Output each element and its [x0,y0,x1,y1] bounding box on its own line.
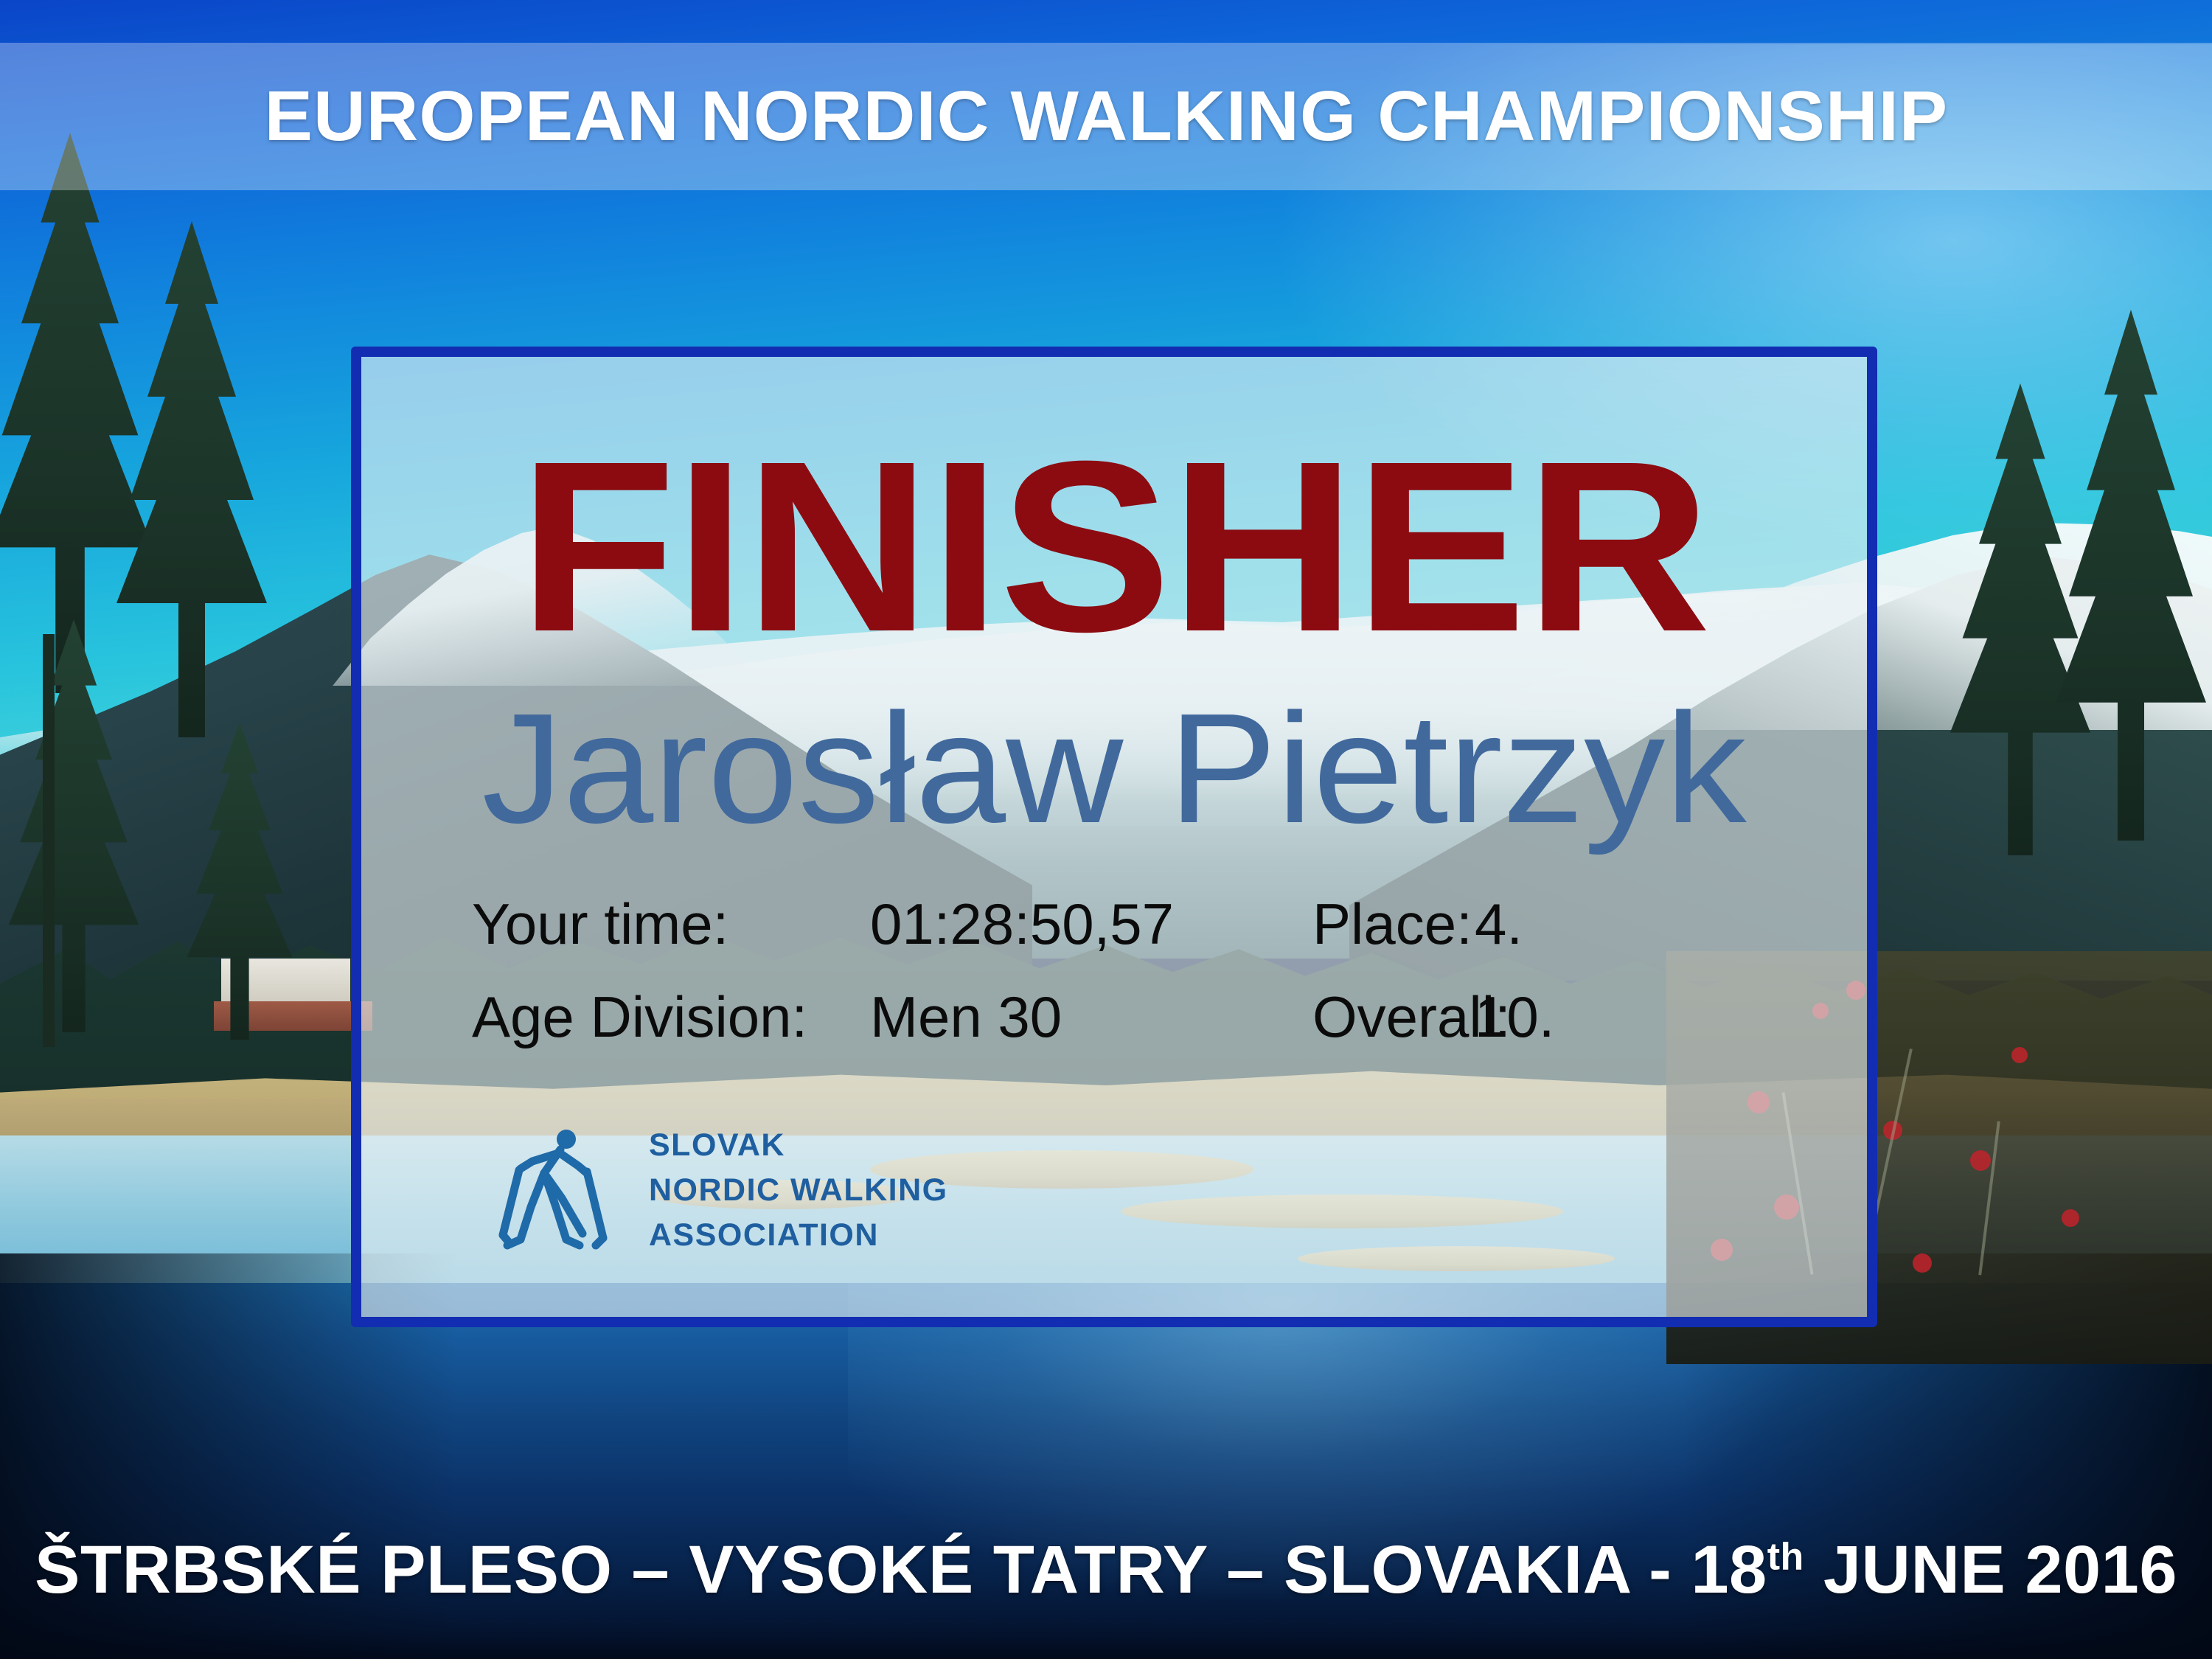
location-prefix: ŠTRBSKÉ PLESO – VYSOKÉ TATRY – SLOVAKIA … [35,1532,1767,1607]
age-division-value: Men 30 [870,988,1312,1046]
berry [1970,1150,1991,1171]
association-name: SLOVAK NORDIC WALKING ASSOCIATION [649,1123,948,1258]
logo-line-3: ASSOCIATION [649,1213,948,1258]
overall-label: Overall: [1312,988,1475,1046]
ordinal-suffix: th [1767,1535,1804,1578]
bottom-banner: ŠTRBSKÉ PLESO – VYSOKÉ TATRY – SLOVAKIA … [0,1514,2212,1625]
stat-row: Age Division: Men 30 Overall: 10. [472,988,1792,1046]
berry [2011,1047,2028,1063]
logo-line-2: NORDIC WALKING [649,1168,948,1213]
logo-line-1: SLOVAK [649,1123,948,1168]
berry [2062,1209,2079,1227]
overall-value: 10. [1475,988,1554,1046]
finisher-certificate-card: FINISHER Jarosław Pietrzyk Your time: 01… [351,347,1877,1327]
your-time-value: 01:28:50,57 [870,895,1312,953]
athlete-name: Jarosław Pietrzyk [351,690,1877,846]
result-stats: Your time: 01:28:50,57 Place: 4. Age Div… [472,895,1792,1081]
berry [1913,1253,1932,1273]
top-banner: EUROPEAN NORDIC WALKING CHAMPIONSHIP [0,43,2212,190]
your-time-label: Your time: [472,895,870,953]
association-logo: SLOVAK NORDIC WALKING ASSOCIATION [479,1123,948,1258]
event-location-date: ŠTRBSKÉ PLESO – VYSOKÉ TATRY – SLOVAKIA … [35,1531,2177,1609]
place-value: 4. [1475,895,1523,953]
nordic-walker-icon [479,1127,627,1253]
age-division-label: Age Division: [472,988,870,1046]
tree-trunk [43,634,55,1047]
certificate-page: EUROPEAN NORDIC WALKING CHAMPIONSHIP FIN… [0,0,2212,1659]
championship-title: EUROPEAN NORDIC WALKING CHAMPIONSHIP [264,76,1948,157]
stat-row: Your time: 01:28:50,57 Place: 4. [472,895,1792,953]
place-label: Place: [1312,895,1475,953]
finisher-heading: FINISHER [351,425,1877,668]
location-suffix: JUNE 2016 [1804,1532,2177,1607]
